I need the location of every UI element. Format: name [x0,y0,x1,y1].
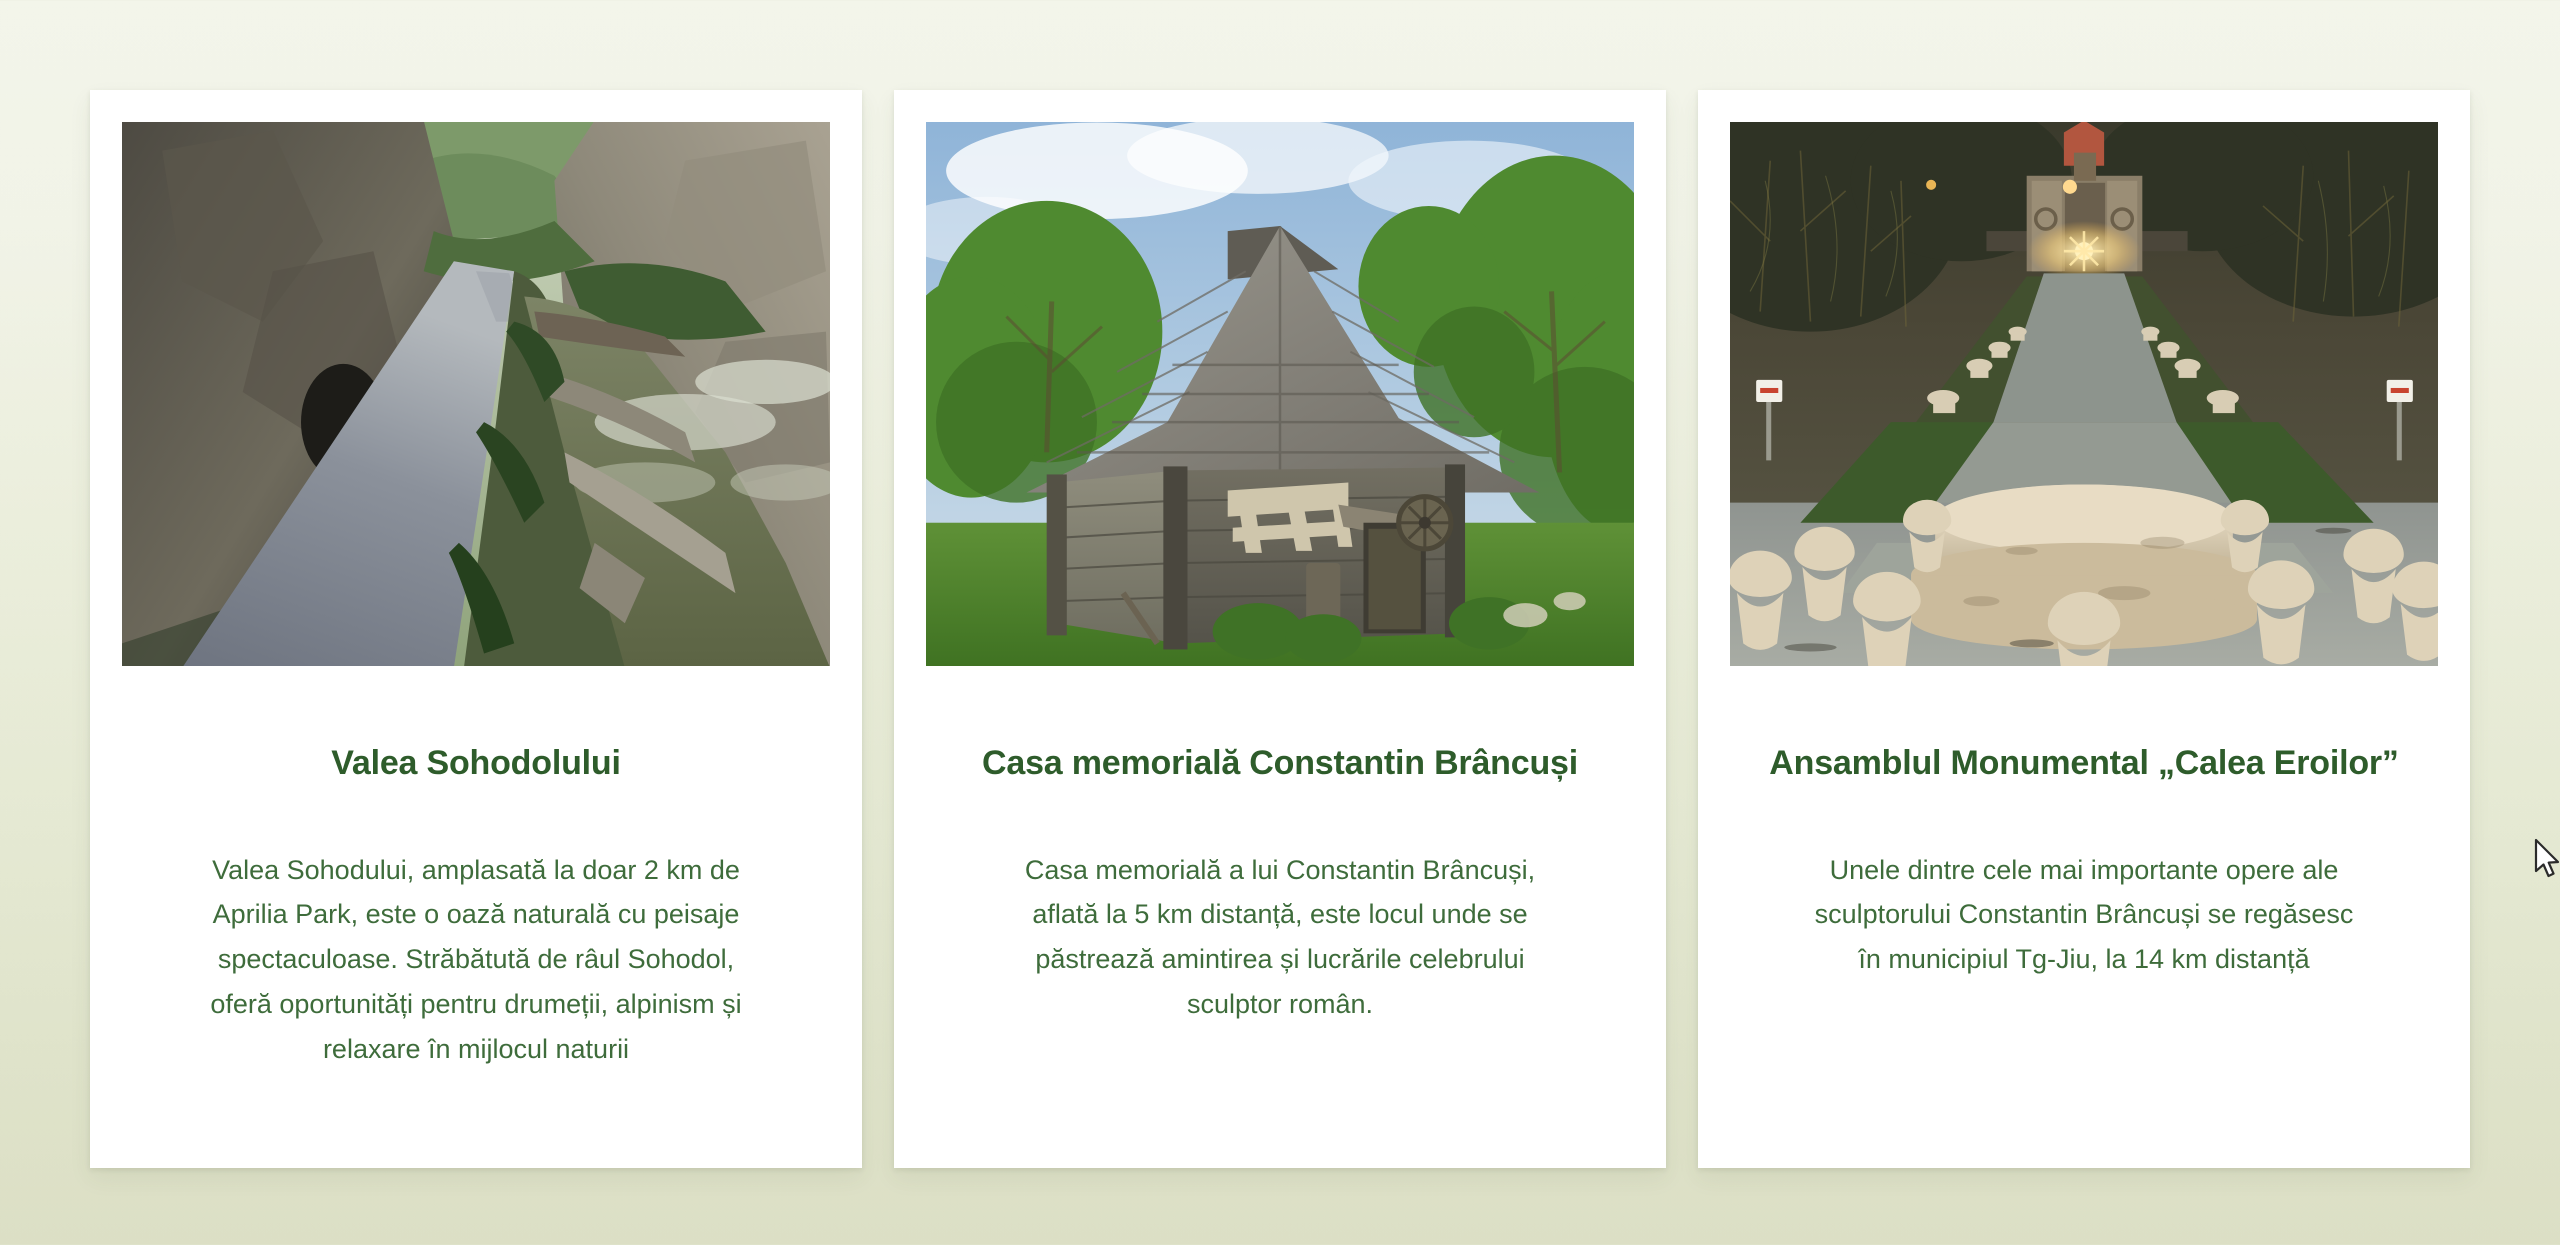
destination-card-valea-sohodolului[interactable]: Valea Sohodolului Valea Sohodului, ampla… [90,90,862,1168]
masa-tacerii-calea-eroilor-photo [1730,122,2438,666]
casa-memoriala-brancusi-photo [926,122,1634,666]
card-description: Casa memorială a lui Constantin Brâncuși… [980,848,1580,1027]
card-description: Valea Sohodului, amplasată la doar 2 km … [176,848,776,1072]
card-title: Valea Sohodolului [317,742,634,786]
card-description: Unele dintre cele mai importante opere a… [1784,848,2384,982]
card-title: Ansamblul Monumental „Calea Eroilor” [1755,742,2412,786]
card-title: Casa memorială Constantin Brâncuși [968,742,1592,786]
mouse-pointer-icon [2533,838,2560,882]
destination-card-casa-memoriala-brancusi[interactable]: Casa memorială Constantin Brâncuși Casa … [894,90,1666,1168]
destination-card-deck: Valea Sohodolului Valea Sohodului, ampla… [90,90,2470,1168]
destination-card-calea-eroilor[interactable]: Ansamblul Monumental „Calea Eroilor” Une… [1698,90,2470,1168]
valea-sohodolului-gorge-road-photo [122,122,830,666]
